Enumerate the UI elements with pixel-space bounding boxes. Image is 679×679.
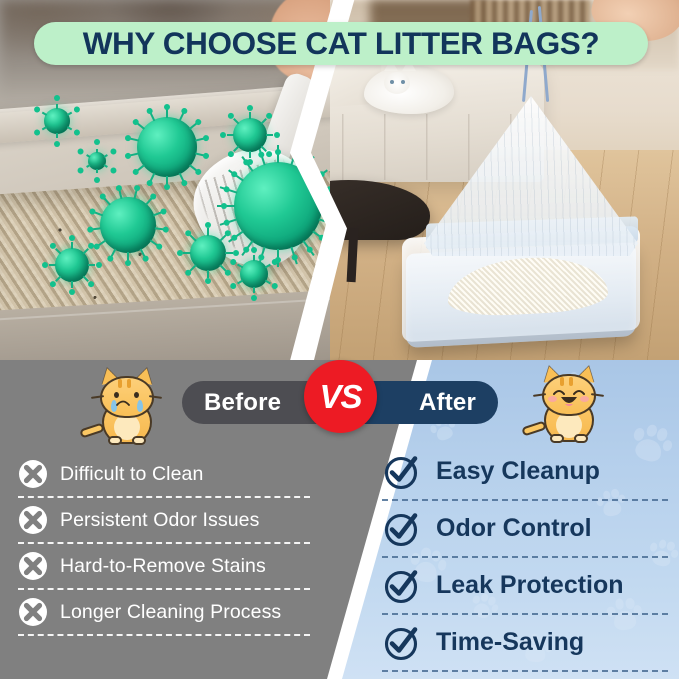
x-circle-icon bbox=[18, 459, 48, 489]
cat-foot-right bbox=[574, 434, 588, 443]
cat-cheek-right bbox=[580, 396, 589, 402]
check-circle-icon bbox=[382, 510, 420, 548]
cat-stripe-1 bbox=[118, 379, 122, 388]
white-cat-eye-right bbox=[401, 80, 405, 84]
germ-particle bbox=[88, 152, 106, 170]
before-list-item: Difficult to Clean bbox=[18, 452, 318, 496]
after-list-item-label: Easy Cleanup bbox=[436, 457, 600, 486]
before-list-item: Persistent Odor Issues bbox=[18, 498, 318, 542]
page-title-text: WHY CHOOSE CAT LITTER BAGS? bbox=[83, 25, 600, 62]
check-circle-icon bbox=[382, 453, 420, 491]
cat-eye-right bbox=[134, 392, 139, 398]
check-circle-icon bbox=[382, 624, 420, 662]
cat-happy-eye-left bbox=[553, 388, 565, 395]
before-list-item: Longer Cleaning Process bbox=[18, 590, 318, 634]
list-separator bbox=[18, 634, 310, 636]
white-cat-face bbox=[384, 72, 410, 94]
white-cat bbox=[364, 66, 454, 114]
infographic-poster: Before After VS Difficult to CleanPersis… bbox=[0, 0, 679, 679]
cat-cheek-left bbox=[548, 396, 557, 402]
cat-foot-left bbox=[108, 436, 122, 445]
cat-foot-right bbox=[132, 436, 146, 445]
vs-badge: VS bbox=[304, 360, 377, 433]
x-circle-icon bbox=[18, 505, 48, 535]
vs-label: VS bbox=[319, 378, 361, 416]
list-separator bbox=[382, 670, 668, 672]
germ-particle bbox=[190, 235, 226, 271]
list-separator bbox=[382, 613, 668, 615]
germ-particle bbox=[240, 260, 268, 288]
list-separator bbox=[382, 556, 668, 558]
after-label: After bbox=[419, 389, 476, 417]
cat-stripe-1 bbox=[560, 377, 564, 386]
white-cat-eye-left bbox=[390, 80, 394, 84]
before-label: Before bbox=[204, 389, 281, 417]
check-circle-icon bbox=[382, 567, 420, 605]
cat-stripe-2 bbox=[569, 377, 573, 386]
before-list-item: Hard-to-Remove Stains bbox=[18, 544, 318, 588]
before-list-item-label: Difficult to Clean bbox=[60, 463, 203, 486]
cat-foot-left bbox=[550, 434, 564, 443]
cat-frown-mouth bbox=[116, 398, 130, 407]
after-list-item-label: Leak Protection bbox=[436, 571, 624, 600]
before-list-item-label: Longer Cleaning Process bbox=[60, 601, 281, 624]
germ-particle bbox=[55, 248, 89, 282]
crying-cat-mascot bbox=[92, 370, 162, 448]
cat-tear-right bbox=[137, 400, 143, 412]
after-list-item: Leak Protection bbox=[382, 558, 672, 613]
germ-particle bbox=[233, 118, 267, 152]
cat-happy-eye-right bbox=[573, 388, 585, 395]
germ-particle bbox=[44, 108, 70, 134]
before-list-item-label: Hard-to-Remove Stains bbox=[60, 555, 266, 578]
x-circle-icon bbox=[18, 551, 48, 581]
list-separator bbox=[382, 499, 668, 501]
after-list-item-label: Odor Control bbox=[436, 514, 592, 543]
before-feature-list: Difficult to CleanPersistent Odor Issues… bbox=[18, 452, 318, 636]
after-feature-list: Easy CleanupOdor ControlLeak ProtectionT… bbox=[382, 444, 672, 672]
happy-cat-mascot bbox=[534, 368, 604, 446]
before-list-item-label: Persistent Odor Issues bbox=[60, 509, 259, 532]
page-title: WHY CHOOSE CAT LITTER BAGS? bbox=[34, 22, 648, 65]
cat-stripe-2 bbox=[127, 379, 131, 388]
after-list-item: Easy Cleanup bbox=[382, 444, 672, 499]
after-list-item-label: Time-Saving bbox=[436, 628, 584, 657]
after-list-item: Time-Saving bbox=[382, 615, 672, 670]
after-list-item: Odor Control bbox=[382, 501, 672, 556]
before-after-bar: Before After VS bbox=[182, 381, 498, 424]
germ-particle bbox=[137, 117, 197, 177]
x-circle-icon bbox=[18, 597, 48, 627]
germ-particle bbox=[100, 197, 156, 253]
cat-open-smile-mouth bbox=[560, 395, 578, 409]
